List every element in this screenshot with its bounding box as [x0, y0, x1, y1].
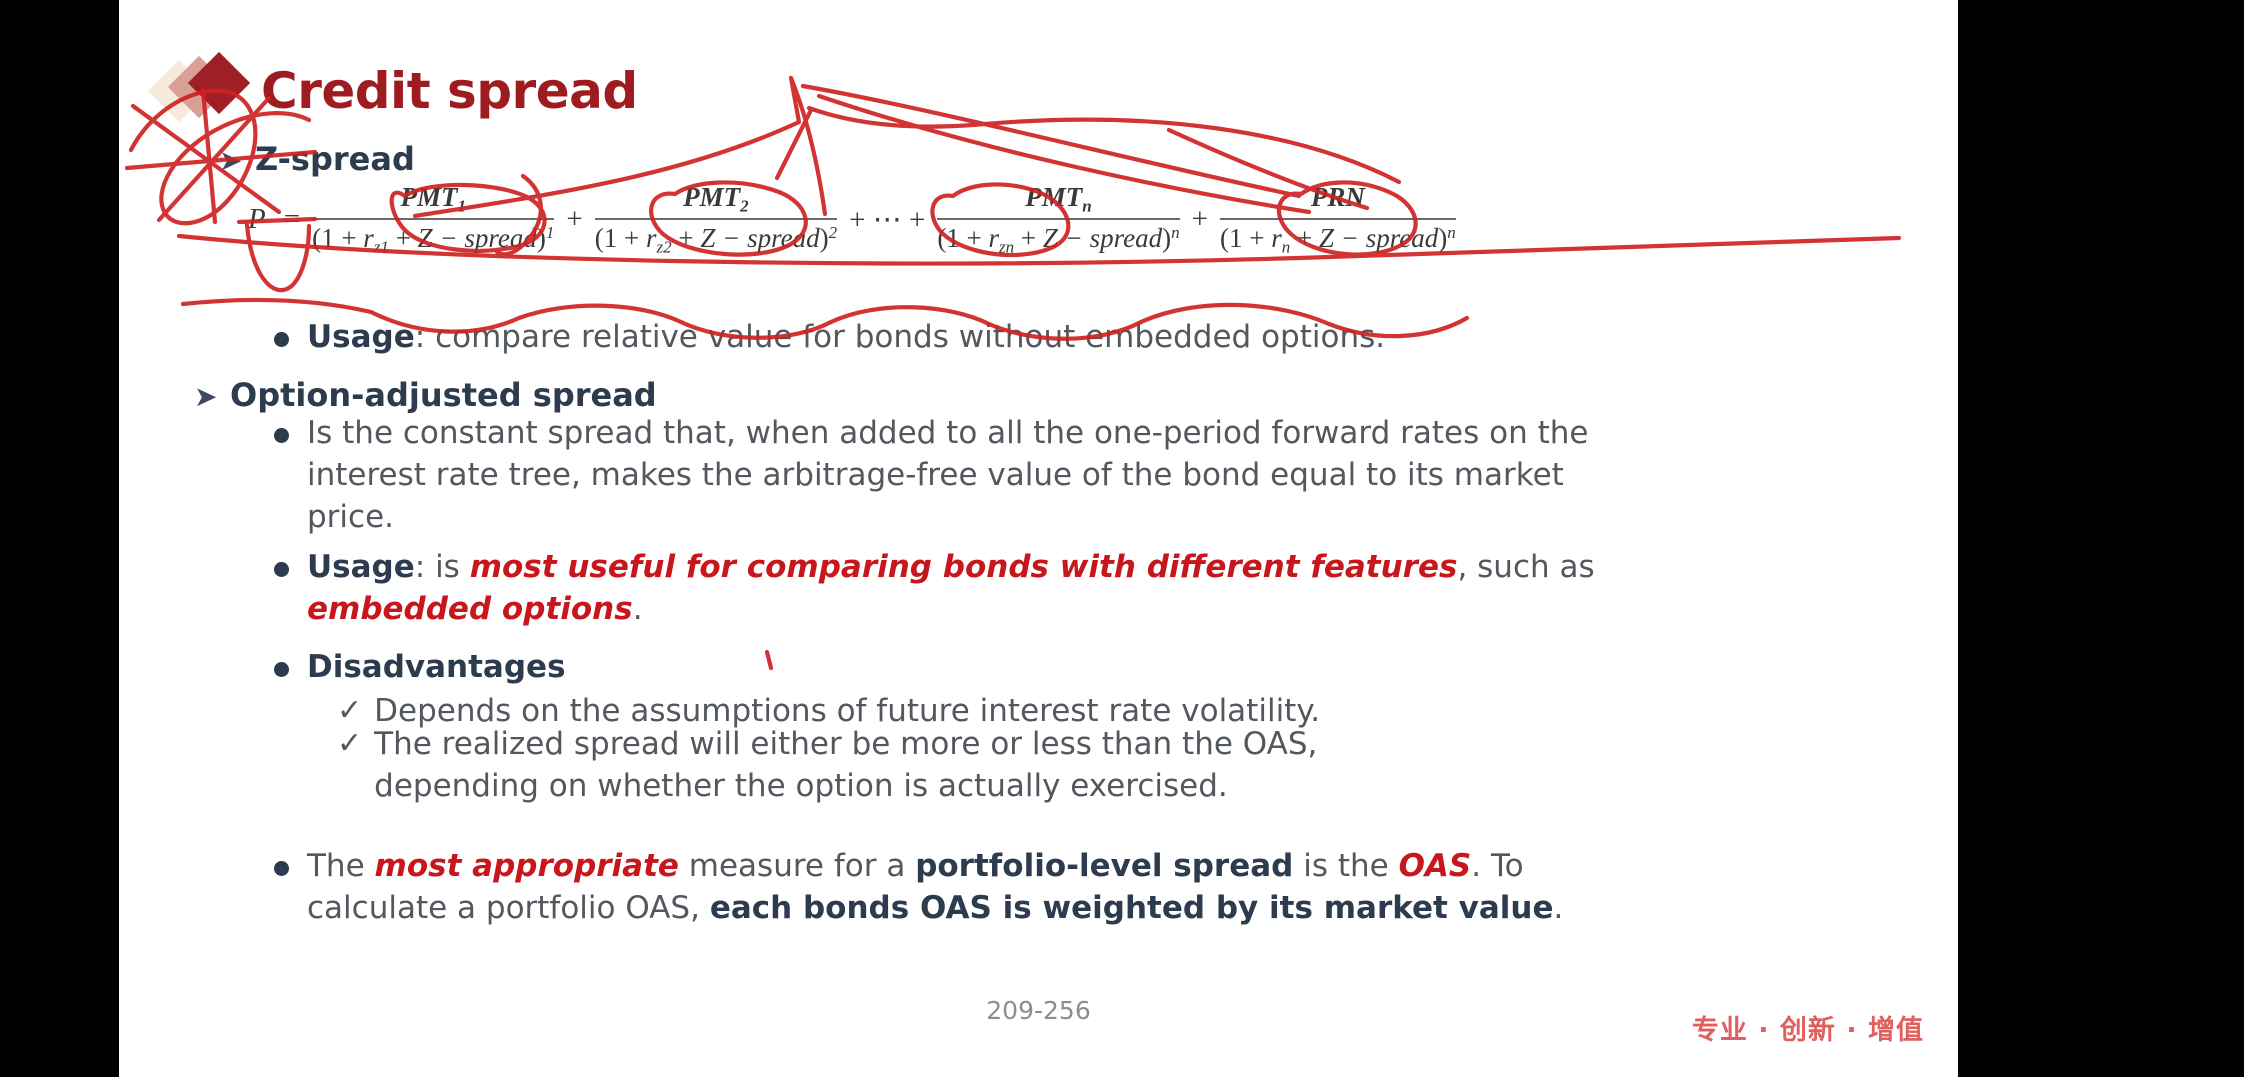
section-heading-option-adjusted-spread: ➤Option-adjusted spread [194, 376, 657, 414]
bullet-oas-usage: Usage: is most useful for comparing bond… [274, 546, 1634, 630]
bullet-portfolio-tail: . [1554, 890, 1564, 926]
diamond-stack-logo-icon [155, 56, 251, 126]
bullet-dot-icon [274, 562, 289, 577]
section-heading-oas-label: Option-adjusted spread [230, 376, 657, 414]
letterbox-left [0, 0, 119, 1077]
bullet-portfolio-bold-2: each bonds OAS is weighted by its market… [710, 890, 1554, 926]
bullet-portfolio-mid-1: measure for a [679, 848, 915, 884]
formula-term-2-numerator: PMT2 [683, 182, 749, 218]
letterbox-right [1958, 0, 2244, 1077]
z-spread-formula: P = PMT1 (1 + rz1 + Z − spread)1 + PMT2 … [239, 182, 1459, 257]
bullet-oas-definition: Is the constant spread that, when added … [274, 412, 1624, 538]
formula-term-2: PMT2 (1 + rz2 + Z − spread)2 [595, 182, 837, 257]
section-heading-z-spread: ➤Z-spread [219, 140, 415, 178]
formula-term-4-numerator: PRN [1311, 182, 1365, 218]
bullet-dot-icon [274, 428, 289, 443]
bullet-dot-icon [274, 861, 289, 876]
bullet-oas-definition-text: Is the constant spread that, when added … [307, 412, 1624, 538]
formula-term-1-denominator: (1 + rz1 + Z − spread)1 [312, 220, 554, 257]
bullet-oas-usage-sep: : is [415, 549, 470, 585]
check-item-2: ✓ The realized spread will either be mor… [337, 723, 1447, 807]
slide-title-row: Credit spread [155, 52, 638, 130]
arrow-bullet-icon: ➤ [194, 380, 230, 413]
bullet-oas-usage-label: Usage [307, 549, 415, 585]
bullet-zspread-usage-sep: : [415, 319, 435, 355]
bullet-oas-usage-mid: , such as [1457, 549, 1594, 585]
formula-plus-1: + [557, 203, 591, 236]
formula-term-3-denominator: (1 + rzn + Z − spread)n [937, 220, 1179, 257]
bullet-oas-usage-tail: . [633, 591, 643, 627]
formula-equals: = [275, 203, 309, 236]
bullet-dot-icon [274, 662, 289, 677]
formula-term-3: PMTn (1 + rzn + Z − spread)n [937, 182, 1179, 257]
arrow-bullet-icon: ➤ [219, 144, 255, 177]
bullet-zspread-usage: Usage: compare relative value for bonds … [274, 316, 1604, 358]
formula-plus-2: + [1183, 203, 1217, 236]
formula-term-2-denominator: (1 + rz2 + Z − spread)2 [595, 220, 837, 257]
formula-term-3-numerator: PMTn [1025, 182, 1091, 218]
bullet-portfolio-pre: The [307, 848, 375, 884]
screenshot-root: Credit spread ➤Z-spread P = PMT1 (1 + rz… [0, 0, 2244, 1077]
formula-term-1: PMT1 (1 + rz1 + Z − spread)1 [312, 182, 554, 257]
formula-term-4: PRN (1 + rn + Z − spread)n [1220, 182, 1456, 257]
page-number: 209-256 [119, 996, 1958, 1025]
bullet-zspread-usage-label: Usage [307, 319, 415, 355]
checkmark-icon: ✓ [337, 723, 362, 765]
bullet-disadvantages-label: Disadvantages [307, 649, 566, 685]
bullet-zspread-usage-text: compare relative value for bonds without… [435, 319, 1385, 355]
bullet-oas-usage-emphasis-1: most useful for comparing bonds with dif… [470, 549, 1458, 585]
bullet-portfolio-emphasis-2: OAS [1399, 848, 1472, 884]
formula-term-4-denominator: (1 + rn + Z − spread)n [1220, 220, 1456, 257]
bullet-dot-icon [274, 332, 289, 347]
bullet-oas-usage-emphasis-2: embedded options [307, 591, 633, 627]
page-title: Credit spread [261, 62, 638, 120]
bullet-portfolio-bold-1: portfolio-level spread [915, 848, 1293, 884]
formula-term-1-numerator: PMT1 [400, 182, 466, 218]
bullet-portfolio-oas: The most appropriate measure for a portf… [274, 845, 1634, 929]
bullet-portfolio-mid-2: is the [1293, 848, 1398, 884]
section-heading-z-spread-label: Z-spread [255, 140, 415, 178]
check-item-2-text: The realized spread will either be more … [374, 723, 1447, 807]
brand-slogan: 专业 · 创新 · 增值 [1692, 1008, 1924, 1047]
formula-lhs: P [239, 203, 275, 236]
bullet-portfolio-emphasis-1: most appropriate [375, 848, 679, 884]
formula-ellipsis: + ⋯ + [840, 202, 934, 237]
presentation-slide: Credit spread ➤Z-spread P = PMT1 (1 + rz… [119, 0, 1958, 1077]
bullet-disadvantages: Disadvantages [274, 646, 566, 688]
